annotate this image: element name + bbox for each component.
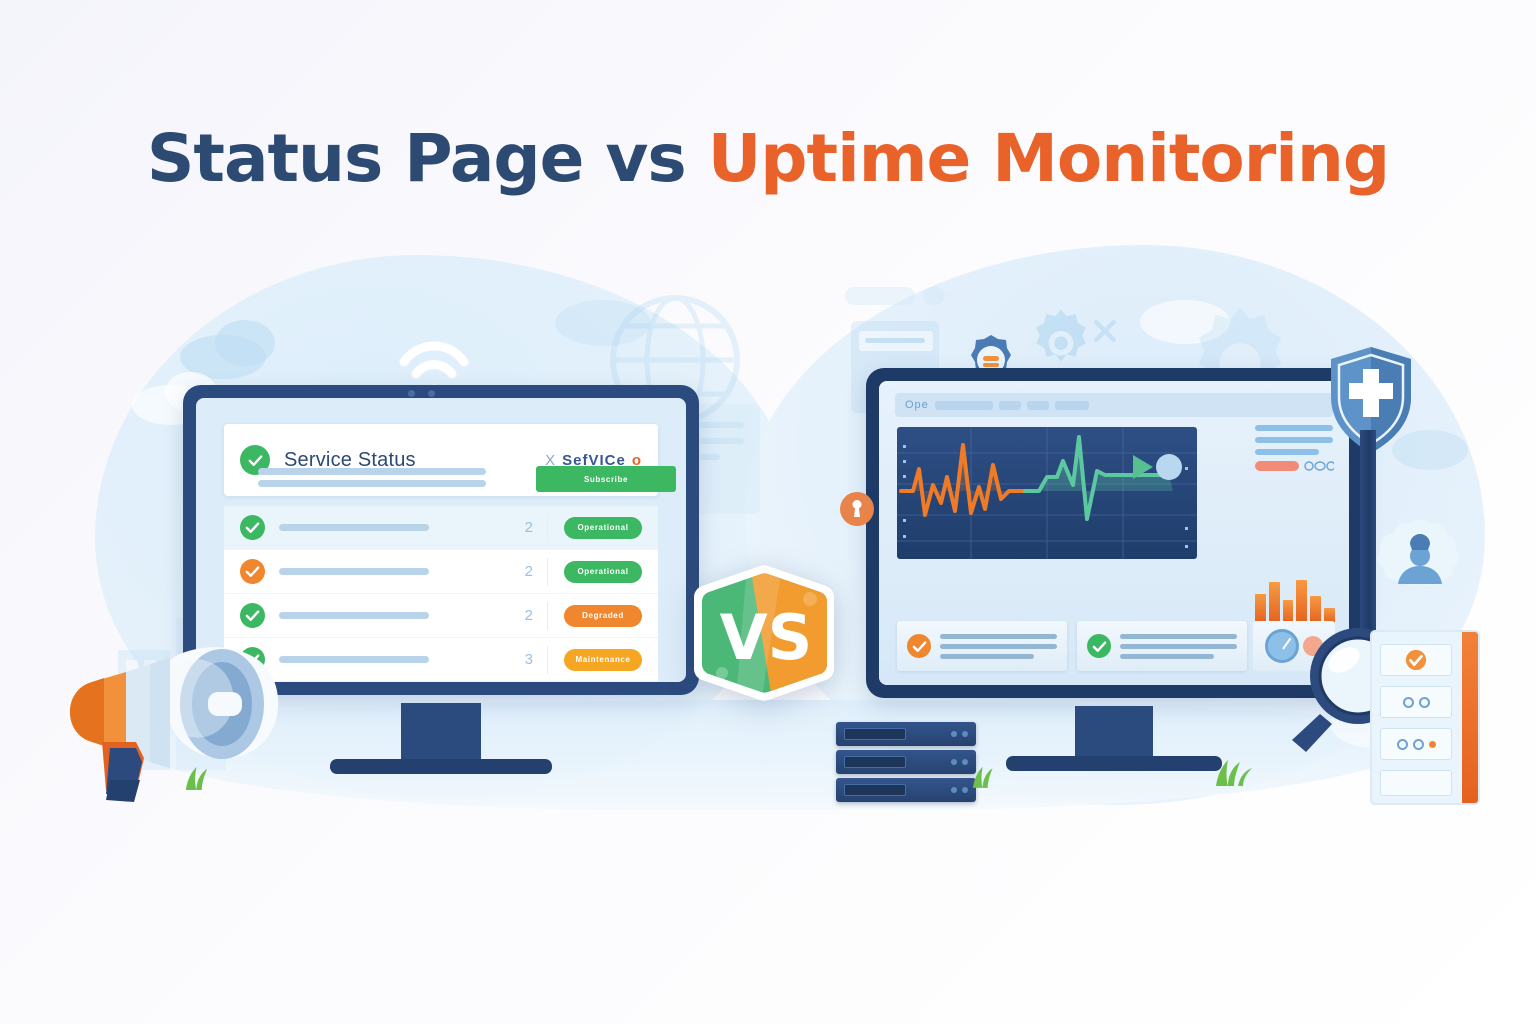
- toolbar-label: Ope: [905, 399, 929, 411]
- dashboard-card[interactable]: [897, 621, 1067, 671]
- status-dots-icon: [1304, 461, 1334, 471]
- bar: [1255, 594, 1266, 623]
- server-stack: [836, 722, 976, 806]
- status-badge: Operational: [564, 517, 642, 539]
- check-circle-icon: [240, 515, 265, 540]
- toolbar-segment: [1055, 401, 1089, 410]
- illustration-canvas: Status Page vs Uptime Monitoring: [0, 0, 1536, 1024]
- server-unit: [836, 722, 976, 746]
- rack-unit: [1380, 686, 1452, 718]
- monitoring-dashboard-screen: Ope: [879, 381, 1349, 685]
- chart-ticks: [903, 445, 1188, 548]
- gear-icon: [1025, 305, 1097, 377]
- chart-endpoint-dot: [1156, 454, 1182, 480]
- server-rack-cabinet: [1370, 630, 1480, 805]
- rack-unit: [1380, 770, 1452, 796]
- toolbar-segment: [999, 401, 1021, 410]
- check-circle-icon: [240, 603, 265, 628]
- dashboard-side-panel: [1255, 425, 1335, 623]
- rack-unit: [1380, 644, 1452, 676]
- alert-bar: [1255, 461, 1299, 471]
- server-leds: [951, 731, 968, 737]
- camera-dot: [408, 390, 415, 397]
- status-badge: Degraded: [564, 605, 642, 627]
- dashboard-cards: [897, 621, 1247, 671]
- check-circle-icon: [1087, 634, 1111, 658]
- title-part-uptime-monitoring: Uptime Monitoring: [708, 120, 1389, 197]
- plus-decor: [1092, 318, 1118, 344]
- lock-icon: [840, 492, 874, 526]
- monitor-neck: [401, 703, 481, 761]
- side-line: [1255, 449, 1319, 455]
- table-row[interactable]: 2 Operational: [224, 550, 658, 594]
- row-label-bar: [279, 612, 429, 619]
- dashboard-body: Ope: [879, 381, 1349, 685]
- row-divider: [547, 514, 548, 542]
- server-unit: [836, 750, 976, 774]
- row-divider: [547, 558, 548, 586]
- incident-bar-chart: [1255, 571, 1335, 623]
- row-divider: [547, 646, 548, 674]
- toolbar-segment: [935, 401, 993, 410]
- row-divider: [547, 602, 548, 630]
- check-circle-icon: [907, 634, 931, 658]
- toolbar-segment: [1027, 401, 1049, 410]
- subscribe-button[interactable]: Subscribe: [536, 466, 676, 492]
- monitor-neck: [1075, 706, 1153, 758]
- title-part-status-page: Status Page vs: [147, 120, 708, 197]
- server-leds: [951, 787, 968, 793]
- row-label-bar: [279, 568, 429, 575]
- table-row[interactable]: 2 Operational: [224, 506, 658, 550]
- row-count: 2: [525, 563, 533, 580]
- side-line: [1255, 425, 1333, 431]
- check-circle-icon: [240, 559, 265, 584]
- header-placeholder-lines: [258, 468, 486, 487]
- server-slot: [844, 728, 906, 740]
- status-badge: Operational: [564, 561, 642, 583]
- server-slot: [844, 784, 906, 796]
- bar: [1269, 582, 1280, 623]
- rack-side-panel: [1462, 632, 1478, 803]
- row-label-bar: [279, 524, 429, 531]
- check-circle-icon: [1405, 649, 1427, 671]
- grass-decor: [180, 760, 220, 790]
- server-leds: [951, 759, 968, 765]
- server-unit: [836, 778, 976, 802]
- server-slot: [844, 756, 906, 768]
- line-chart-svg: [897, 427, 1197, 559]
- monitor-base: [1006, 756, 1222, 771]
- side-line: [1255, 437, 1333, 443]
- grass-decor: [1210, 752, 1254, 786]
- status-badge: Maintenance: [564, 649, 642, 671]
- row-count: 2: [525, 519, 533, 536]
- monitor-base: [330, 759, 552, 774]
- user-badge-icon: [1372, 520, 1468, 612]
- rack-unit: [1380, 728, 1452, 760]
- vs-label: VS: [720, 601, 813, 674]
- dashboard-toolbar[interactable]: Ope: [895, 393, 1333, 417]
- vs-shield-badge: VS: [688, 563, 848, 711]
- page-title: Status Page vs Uptime Monitoring: [0, 120, 1536, 197]
- camera-dot: [428, 390, 435, 397]
- row-count: 2: [525, 607, 533, 624]
- uptime-line-chart: [897, 427, 1197, 559]
- bar: [1296, 580, 1307, 623]
- dashboard-card[interactable]: [1077, 621, 1247, 671]
- row-count: 3: [525, 651, 533, 668]
- grass-decor: [968, 760, 1004, 788]
- cloud-decor: [215, 320, 275, 366]
